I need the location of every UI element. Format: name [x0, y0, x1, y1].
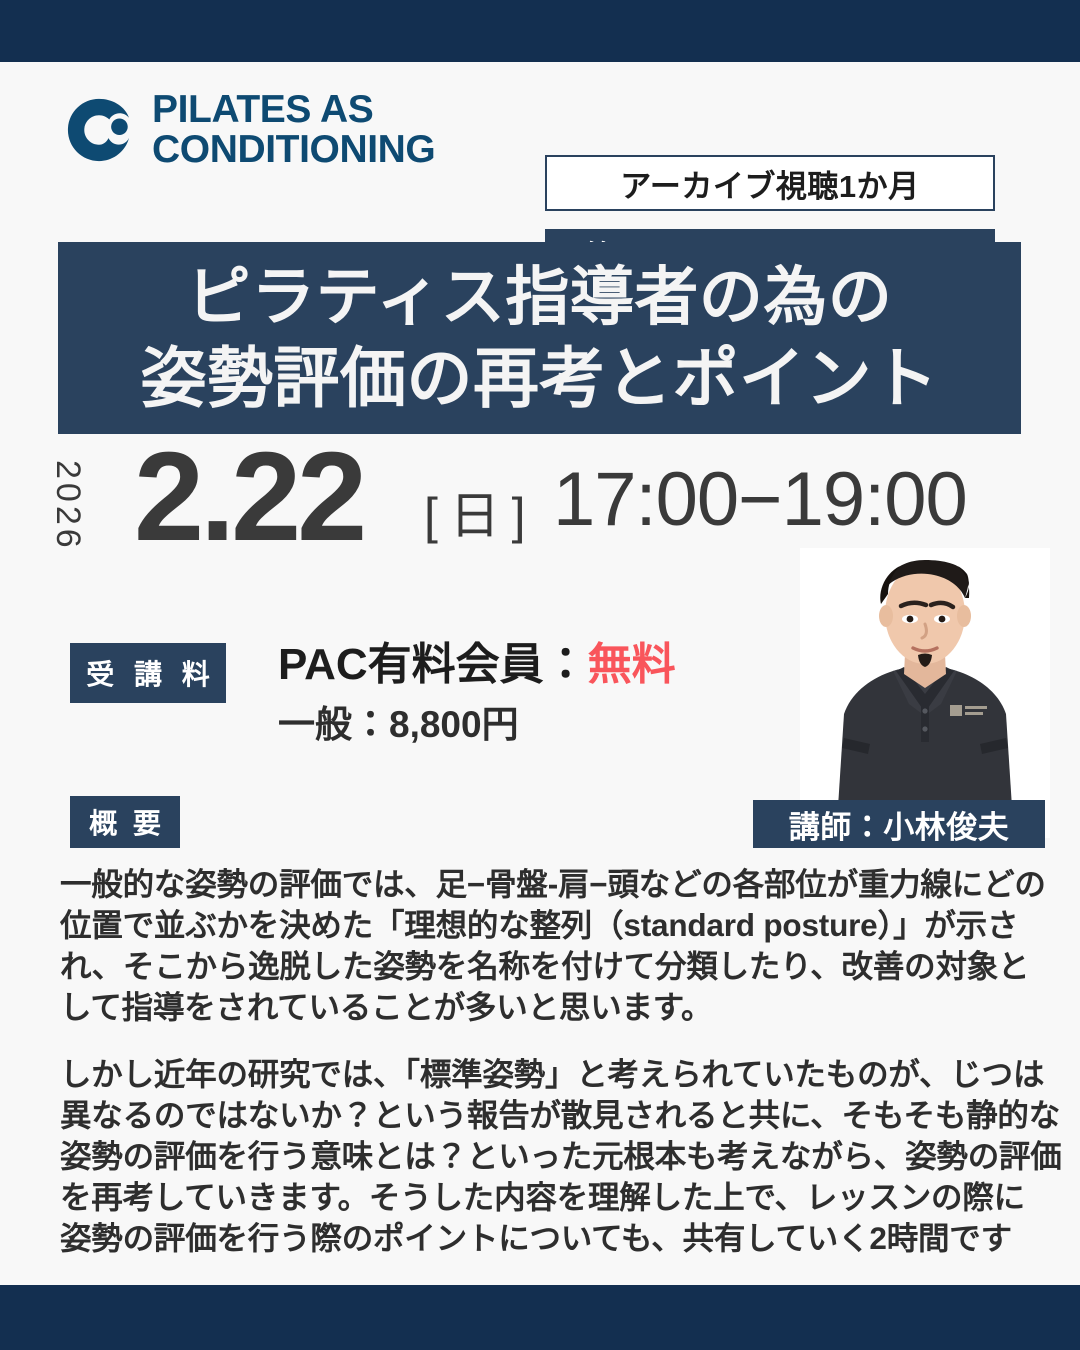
event-year: 2026: [48, 460, 87, 552]
overview-line: 異なるのではないか？という報告が散見されると共に、そもそも静的な: [60, 1095, 1050, 1136]
brand-wordmark-line1: PILATES AS: [152, 90, 435, 130]
overview-line: しかし近年の研究では、「標準姿勢」と考えられていたものが、じつは: [60, 1054, 1050, 1095]
seminar-poster: PILATES AS CONDITIONING アーカイブ視聴1か月 第47回オ…: [0, 0, 1080, 1350]
overview-body: 一般的な姿勢の評価では、足−骨盤-肩−頭などの各部位が重力線にどの 位置で並ぶか…: [60, 864, 1050, 1258]
fee-section-label: 受 講 料: [70, 643, 226, 703]
overview-paragraph: しかし近年の研究では、「標準姿勢」と考えられていたものが、じつは 異なるのではな…: [60, 1054, 1050, 1259]
instructor-photo: [800, 548, 1050, 838]
seminar-title-line1: ピラティス指導者の為の: [187, 258, 893, 336]
seminar-title-block: ピラティス指導者の為の 姿勢評価の再考とポイント: [58, 242, 1021, 434]
pilates-as-conditioning-logo-mark-icon: [62, 93, 136, 167]
overview-paragraph: 一般的な姿勢の評価では、足−骨盤-肩−頭などの各部位が重力線にどの 位置で並ぶか…: [60, 864, 1050, 1028]
bottom-accent-bar: [0, 1285, 1080, 1350]
overview-line: れ、そこから逸脱した姿勢を名称を付けて分類したり、改善の対象と: [60, 946, 1050, 987]
brand-wordmark: PILATES AS CONDITIONING: [152, 90, 435, 170]
event-weekday: [ 日 ]: [424, 476, 525, 548]
overview-line: して指導をされていることが多いと思います。: [60, 987, 1050, 1028]
archive-availability-badge: アーカイブ視聴1か月: [545, 155, 995, 211]
brand-wordmark-line2: CONDITIONING: [152, 130, 435, 170]
poster-header: PILATES AS CONDITIONING アーカイブ視聴1か月 第47回オ…: [0, 62, 1080, 232]
member-fee-prefix: PAC有料会員：: [278, 640, 588, 689]
event-date: 2.22: [134, 434, 363, 560]
overview-line: 一般的な姿勢の評価では、足−骨盤-肩−頭などの各部位が重力線にどの: [60, 864, 1050, 905]
event-time-range: 17:00−19:00: [553, 462, 967, 538]
overview-line: 姿勢の評価を行う意味とは？といった元根本も考えながら、姿勢の評価: [60, 1136, 1050, 1177]
member-fee-line: PAC有料会員：無料: [278, 628, 676, 692]
top-accent-bar: [0, 0, 1080, 62]
seminar-title-line2: 姿勢評価の再考とポイント: [141, 338, 939, 419]
overview-line: を再考していきます。そうした内容を理解した上で、レッスンの際に: [60, 1177, 1050, 1218]
brand-logo: PILATES AS CONDITIONING: [62, 90, 435, 170]
overview-section-label: 概 要: [70, 796, 180, 848]
instructor-name-badge: 講師：小林俊夫: [753, 800, 1045, 848]
overview-line: 位置で並ぶかを決めた「理想的な整列（standard posture）」が示さ: [60, 905, 1050, 946]
member-fee-price: 無料: [588, 640, 676, 689]
overview-line: 姿勢の評価を行う際のポイントについても、共有していく2時間です: [60, 1218, 1050, 1259]
general-fee-line: 一般：8,800円: [278, 694, 519, 748]
